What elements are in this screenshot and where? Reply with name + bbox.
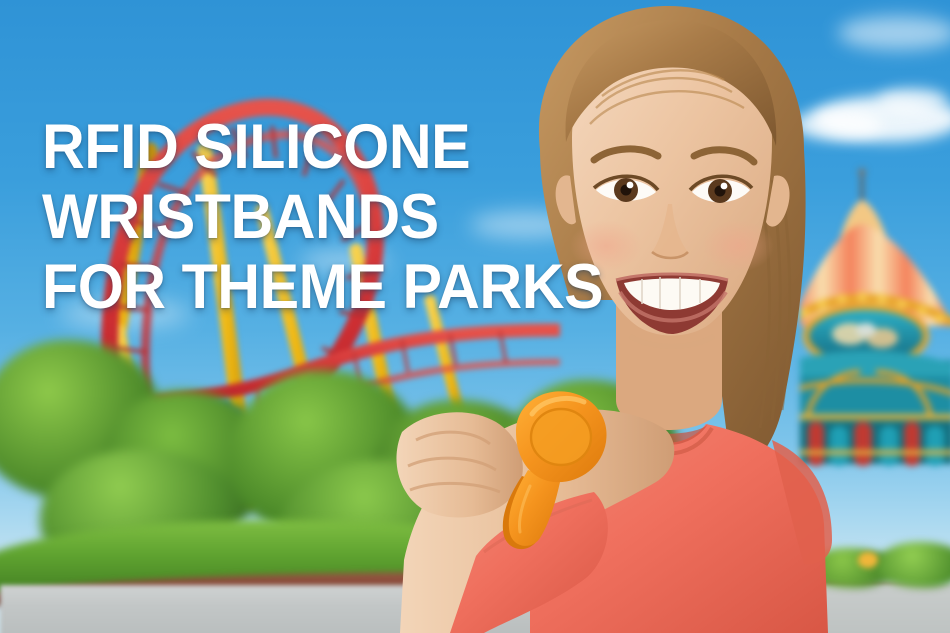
page-title: RFID SILICONE WRISTBANDS FOR THEME PARKS [42,112,603,322]
banner-image: RFID SILICONE WRISTBANDS FOR THEME PARKS [0,0,950,633]
headline-line-1: RFID SILICONE [42,112,603,182]
headline-line-3: FOR THEME PARKS [42,252,603,322]
headline-line-2: WRISTBANDS [42,182,603,252]
